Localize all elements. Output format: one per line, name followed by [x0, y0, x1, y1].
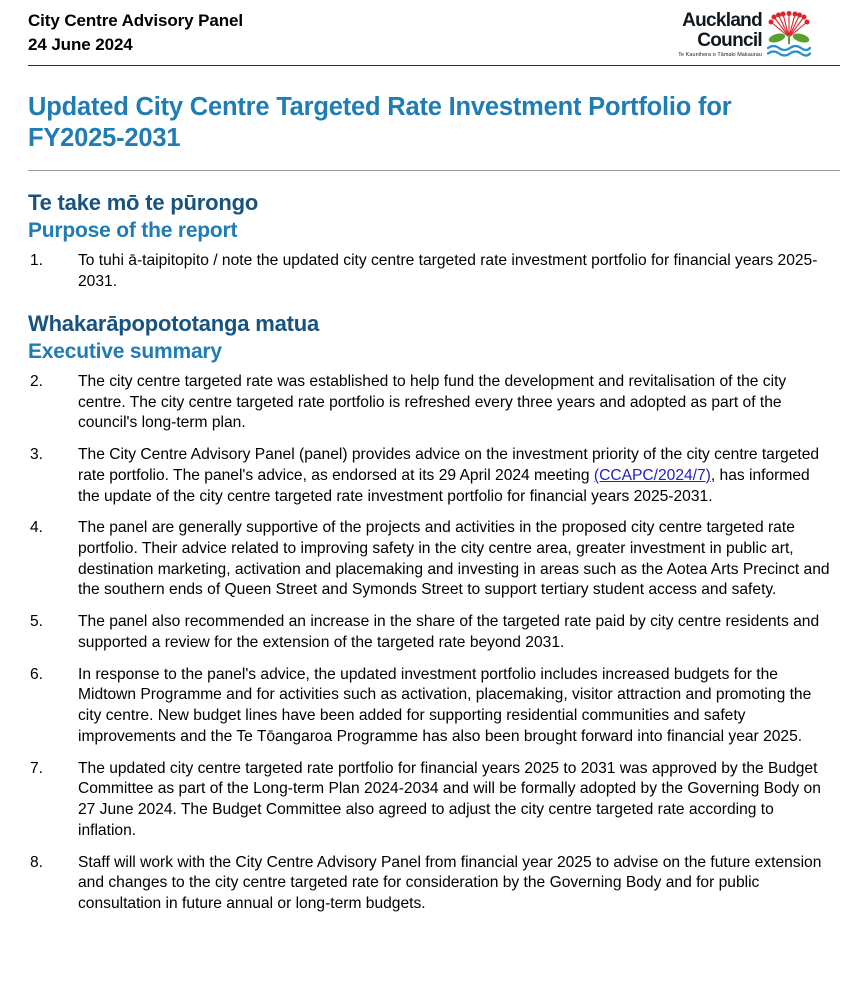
list-item: 4. The panel are generally supportive of…	[28, 518, 840, 601]
header-divider	[28, 65, 840, 66]
list-item: 2. The city centre targeted rate was est…	[28, 372, 840, 434]
list-item-text: In response to the panel's advice, the u…	[78, 665, 840, 748]
list-item-number: 4.	[28, 518, 78, 539]
list-item-text: Staff will work with the City Centre Adv…	[78, 853, 840, 915]
list-item-number: 8.	[28, 853, 78, 874]
minute-reference-link[interactable]: (CCAPC/2024/7)	[594, 467, 711, 484]
document-header: City Centre Advisory Panel 24 June 2024 …	[28, 0, 840, 59]
section-heading-maori: Te take mō te pūrongo	[28, 190, 840, 216]
logo-wordmark: Auckland Council Te Kaunihera o Tāmaki M…	[678, 11, 762, 58]
page-title: Updated City Centre Targeted Rate Invest…	[28, 92, 818, 154]
list-item-text: The panel are generally supportive of th…	[78, 518, 840, 601]
section-heading-maori: Whakarāpopototanga matua	[28, 311, 840, 337]
logo-line-auckland: Auckland	[678, 11, 762, 30]
list-item-text: To tuhi ā-taipitopito / note the updated…	[78, 251, 840, 292]
logo-maori-strapline: Te Kaunihera o Tāmaki Makaurau	[678, 53, 762, 58]
section-heading-english: Executive summary	[28, 339, 840, 364]
numbered-list-purpose: 1. To tuhi ā-taipitopito / note the upda…	[28, 251, 840, 292]
document-page: City Centre Advisory Panel 24 June 2024 …	[0, 0, 868, 1000]
header-meta: City Centre Advisory Panel 24 June 2024	[28, 9, 243, 57]
section-heading-english: Purpose of the report	[28, 218, 840, 243]
list-item: 6. In response to the panel's advice, th…	[28, 665, 840, 748]
list-item-number: 7.	[28, 759, 78, 780]
header-date: 24 June 2024	[28, 33, 243, 57]
list-item-number: 6.	[28, 665, 78, 686]
list-item-number: 3.	[28, 445, 78, 466]
logo-line-council: Council	[678, 31, 762, 50]
list-item-text: The updated city centre targeted rate po…	[78, 759, 840, 842]
list-item-text: The city centre targeted rate was establ…	[78, 372, 840, 434]
list-item-number: 1.	[28, 251, 78, 272]
list-item-number: 2.	[28, 372, 78, 393]
list-item: 7. The updated city centre targeted rate…	[28, 759, 840, 842]
auckland-council-logo: Auckland Council Te Kaunihera o Tāmaki M…	[678, 11, 812, 59]
list-item-text: The City Centre Advisory Panel (panel) p…	[78, 445, 840, 507]
section-executive-summary: Whakarāpopototanga matua Executive summa…	[28, 311, 840, 914]
list-item: 1. To tuhi ā-taipitopito / note the upda…	[28, 251, 840, 292]
list-item: 5. The panel also recommended an increas…	[28, 612, 840, 653]
section-purpose: Te take mō te pūrongo Purpose of the rep…	[28, 190, 840, 292]
list-item-text: The panel also recommended an increase i…	[78, 612, 840, 653]
header-panel-name: City Centre Advisory Panel	[28, 9, 243, 33]
list-item: 3. The City Centre Advisory Panel (panel…	[28, 445, 840, 507]
title-divider	[28, 170, 840, 171]
list-item-number: 5.	[28, 612, 78, 633]
list-item: 8. Staff will work with the City Centre …	[28, 853, 840, 915]
numbered-list-executive-summary: 2. The city centre targeted rate was est…	[28, 372, 840, 915]
pohutukawa-logo-icon	[766, 11, 812, 59]
